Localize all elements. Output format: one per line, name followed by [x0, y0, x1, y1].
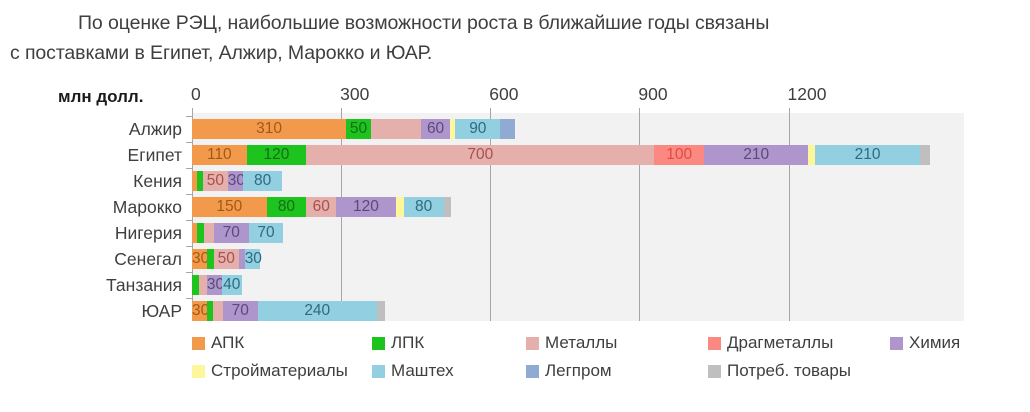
- bar-segment[interactable]: [444, 197, 452, 217]
- bar-segment[interactable]: [371, 119, 421, 139]
- legend-item[interactable]: Металлы: [526, 330, 617, 356]
- bar-track: 7070: [192, 220, 964, 246]
- bar-segment[interactable]: [192, 119, 346, 139]
- bar-segment[interactable]: [377, 301, 385, 321]
- bar-segment[interactable]: [192, 145, 247, 165]
- bar-segment[interactable]: [455, 119, 500, 139]
- bar-segment[interactable]: [500, 119, 515, 139]
- legend-swatch-icon: [526, 337, 539, 350]
- legend-label: Металлы: [545, 330, 617, 356]
- bar-track: 3070240: [192, 298, 964, 324]
- chart-row: Марокко150806012080: [14, 194, 964, 220]
- legend-swatch-icon: [192, 337, 205, 350]
- category-label-танзания: Танзания: [14, 272, 182, 298]
- legend-label: Драгметаллы: [727, 330, 833, 356]
- x-axis-tick-label: 900: [638, 84, 667, 105]
- bar-segment[interactable]: [920, 145, 930, 165]
- category-label-египет: Египет: [14, 142, 182, 168]
- bar-segment[interactable]: [654, 145, 704, 165]
- bar-segment[interactable]: [249, 223, 284, 243]
- bar-track: 305030: [192, 246, 964, 272]
- legend-item[interactable]: АПК: [192, 330, 244, 356]
- bar-track: 3040: [192, 272, 964, 298]
- x-axis-tick-label: 1200: [788, 84, 827, 105]
- legend-item[interactable]: Маштех: [372, 358, 454, 384]
- x-axis-tick-label: 300: [340, 84, 369, 105]
- chart-row: Кения503080: [14, 168, 964, 194]
- legend-label: Маштех: [391, 358, 454, 384]
- legend-swatch-icon: [890, 337, 903, 350]
- bar-segment[interactable]: [207, 249, 214, 269]
- axis-unit-label: млн долл.: [58, 87, 143, 107]
- bar-segment[interactable]: [404, 197, 444, 217]
- bar-segment[interactable]: [258, 301, 377, 321]
- bar-segment[interactable]: [203, 171, 228, 191]
- bar-segment[interactable]: [306, 197, 336, 217]
- legend-item[interactable]: ЛПК: [372, 330, 424, 356]
- category-label-сенегал: Сенегал: [14, 246, 182, 272]
- category-label-кения: Кения: [14, 168, 182, 194]
- bar-track: 503080: [192, 168, 964, 194]
- caption-line-1: По оценке РЭЦ, наибольшие возможности ро…: [10, 8, 1020, 38]
- chart-row: Алжир310506090: [14, 116, 964, 142]
- legend-swatch-icon: [372, 337, 385, 350]
- bar-segment[interactable]: [204, 223, 214, 243]
- category-label-юар: ЮАР: [14, 298, 182, 324]
- caption-line-2: с поставками в Египет, Алжир, Марокко и …: [10, 38, 1020, 68]
- bar-segment[interactable]: [207, 275, 222, 295]
- bar-segment[interactable]: [704, 145, 808, 165]
- bar-segment[interactable]: [192, 275, 199, 295]
- bar-segment[interactable]: [192, 249, 207, 269]
- bar-segment[interactable]: [192, 301, 207, 321]
- legend-label: АПК: [211, 330, 244, 356]
- category-label-алжир: Алжир: [14, 116, 182, 142]
- bar-segment[interactable]: [222, 275, 242, 295]
- x-axis-tick-label: 600: [489, 84, 518, 105]
- legend-item[interactable]: Стройматериалы: [192, 358, 348, 384]
- legend-label: Потреб. товары: [727, 358, 851, 384]
- bar-segment[interactable]: [306, 145, 654, 165]
- legend-swatch-icon: [192, 365, 205, 378]
- chart-row: Танзания3040: [14, 272, 964, 298]
- bar-track: 310506090: [192, 116, 964, 142]
- caption-block: По оценке РЭЦ, наибольшие возможности ро…: [0, 0, 1030, 68]
- bar-segment[interactable]: [223, 301, 258, 321]
- bar-segment[interactable]: [396, 197, 404, 217]
- bar-track: 110120700100210210: [192, 142, 964, 168]
- bar-segment[interactable]: [421, 119, 451, 139]
- legend-swatch-icon: [526, 365, 539, 378]
- legend-label: Химия: [909, 330, 960, 356]
- legend-item[interactable]: Химия: [890, 330, 960, 356]
- legend-swatch-icon: [708, 365, 721, 378]
- bar-segment[interactable]: [815, 145, 919, 165]
- bar-segment[interactable]: [243, 171, 283, 191]
- legend-item[interactable]: Драгметаллы: [708, 330, 833, 356]
- stacked-bar-chart: млн долл. 03006009001200 Алжир310506090Е…: [14, 84, 1014, 402]
- bar-segment[interactable]: [214, 249, 239, 269]
- bar-track: 150806012080: [192, 194, 964, 220]
- legend-item[interactable]: Легпром: [526, 358, 612, 384]
- category-label-марокко: Марокко: [14, 194, 182, 220]
- legend-swatch-icon: [708, 337, 721, 350]
- chart-row: Нигерия7070: [14, 220, 964, 246]
- bar-segment[interactable]: [197, 223, 204, 243]
- legend-label: Легпром: [545, 358, 612, 384]
- bar-segment[interactable]: [245, 249, 260, 269]
- bar-segment[interactable]: [808, 145, 815, 165]
- bar-segment[interactable]: [346, 119, 371, 139]
- bar-segment[interactable]: [267, 197, 307, 217]
- category-label-нигерия: Нигерия: [14, 220, 182, 246]
- bar-segment[interactable]: [214, 223, 249, 243]
- bar-segment[interactable]: [192, 197, 267, 217]
- bar-segment[interactable]: [228, 171, 243, 191]
- legend-item[interactable]: Потреб. товары: [708, 358, 851, 384]
- legend-swatch-icon: [372, 365, 385, 378]
- legend-label: ЛПК: [391, 330, 424, 356]
- chart-row: ЮАР3070240: [14, 298, 964, 324]
- chart-legend: АПКЛПКМеталлыДрагметаллыХимияСтройматери…: [192, 330, 1012, 394]
- chart-row: Сенегал305030: [14, 246, 964, 272]
- chart-row: Египет110120700100210210: [14, 142, 964, 168]
- bar-segment[interactable]: [336, 197, 396, 217]
- legend-label: Стройматериалы: [211, 358, 348, 384]
- bar-segment[interactable]: [199, 275, 207, 295]
- bar-segment[interactable]: [213, 301, 223, 321]
- x-axis-tick-label: 0: [191, 84, 201, 105]
- bar-segment[interactable]: [247, 145, 307, 165]
